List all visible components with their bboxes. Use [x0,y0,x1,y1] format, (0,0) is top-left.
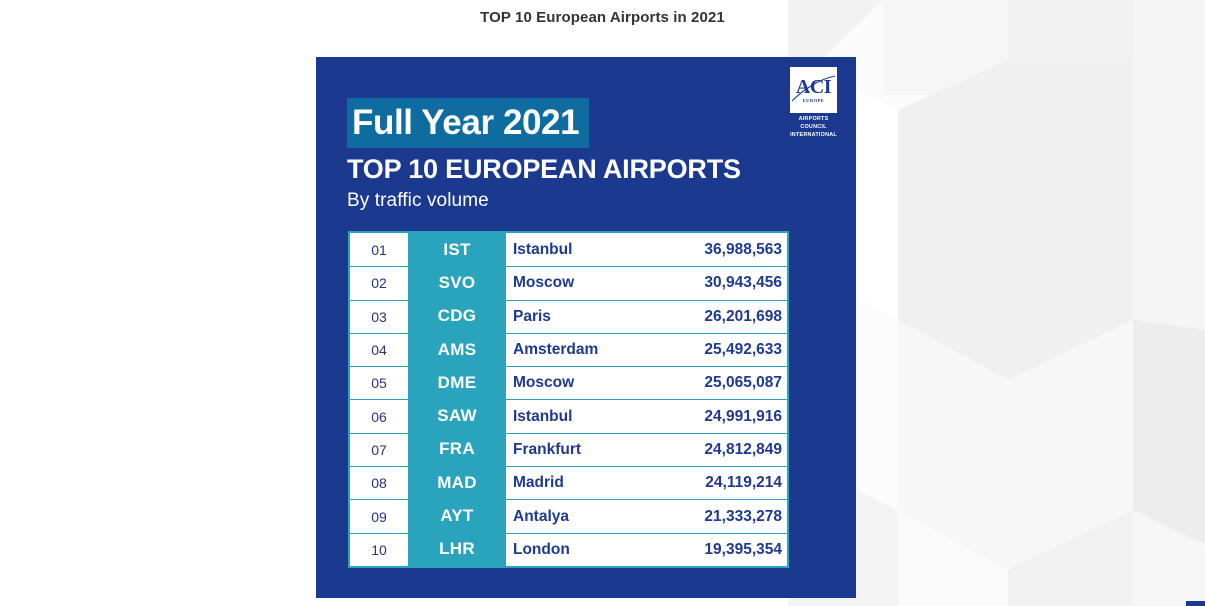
cell-airport-code: CDG [408,300,506,333]
cell-rank: 09 [350,499,408,532]
table-row: 10LHRLondon19,395,354 [350,533,787,566]
table-row: 07FRAFrankfurt24,812,849 [350,433,787,466]
aci-logo: ACI EUROPE AIRPORTS COUNCIL INTERNATIONA… [785,67,842,145]
aci-logo-mark-icon: ACI EUROPE [790,67,837,113]
table-row: 02SVOMoscow30,943,456 [350,266,787,299]
table-row: 01ISTIstanbul36,988,563 [350,233,787,266]
cell-rank: 01 [350,233,408,266]
cell-rank: 02 [350,266,408,299]
cell-traffic-volume: 24,991,916 [627,399,787,432]
aci-logo-line2: INTERNATIONAL [785,132,842,140]
cell-rank: 08 [350,466,408,499]
cell-city: Paris [506,300,627,333]
cell-rank: 05 [350,366,408,399]
card-subtitle: TOP 10 EUROPEAN AIRPORTS [347,154,792,185]
cell-airport-code: SAW [408,399,506,432]
cell-traffic-volume: 26,201,698 [627,300,787,333]
cell-airport-code: FRA [408,433,506,466]
cell-city: Madrid [506,466,627,499]
cell-city: London [506,533,627,566]
cell-traffic-volume: 19,395,354 [627,533,787,566]
cell-rank: 07 [350,433,408,466]
cell-airport-code: IST [408,233,506,266]
table-row: 08MADMadrid24,119,214 [350,466,787,499]
rankings-table: 01ISTIstanbul36,988,56302SVOMoscow30,943… [348,231,789,568]
corner-accent-sliver [1186,601,1205,606]
cell-rank: 03 [350,300,408,333]
svg-text:EUROPE: EUROPE [803,98,825,103]
cell-airport-code: AMS [408,333,506,366]
infographic-card: Full Year 2021 TOP 10 EUROPEAN AIRPORTS … [316,57,856,598]
cell-airport-code: MAD [408,466,506,499]
table-row: 09AYTAntalya21,333,278 [350,499,787,532]
cell-airport-code: LHR [408,533,506,566]
year-banner: Full Year 2021 [347,98,589,148]
cell-city: Moscow [506,366,627,399]
cell-city: Moscow [506,266,627,299]
cell-rank: 10 [350,533,408,566]
cell-traffic-volume: 21,333,278 [627,499,787,532]
table-row: 03CDGParis26,201,698 [350,300,787,333]
table-row: 04AMSAmsterdam25,492,633 [350,333,787,366]
cell-city: Frankfurt [506,433,627,466]
cell-traffic-volume: 24,812,849 [627,433,787,466]
cell-traffic-volume: 25,492,633 [627,333,787,366]
aci-logo-line1: AIRPORTS COUNCIL [785,116,842,132]
cell-airport-code: AYT [408,499,506,532]
cell-city: Antalya [506,499,627,532]
cell-airport-code: SVO [408,266,506,299]
cell-city: Amsterdam [506,333,627,366]
svg-text:ACI: ACI [796,76,832,98]
cell-traffic-volume: 30,943,456 [627,266,787,299]
table-row: 05DMEMoscow25,065,087 [350,366,787,399]
cell-airport-code: DME [408,366,506,399]
card-tagline: By traffic volume [347,190,792,212]
aci-monogram-icon: ACI EUROPE [790,67,837,113]
cell-traffic-volume: 36,988,563 [627,233,787,266]
cell-city: Istanbul [506,233,627,266]
card-header: Full Year 2021 TOP 10 EUROPEAN AIRPORTS … [347,98,792,212]
table-row: 06SAWIstanbul24,991,916 [350,399,787,432]
cell-rank: 06 [350,399,408,432]
cell-city: Istanbul [506,399,627,432]
cell-traffic-volume: 25,065,087 [627,366,787,399]
cell-rank: 04 [350,333,408,366]
aci-logo-wordmark: AIRPORTS COUNCIL INTERNATIONAL [785,116,842,139]
page-title: TOP 10 European Airports in 2021 [0,9,1205,26]
cell-traffic-volume: 24,119,214 [627,466,787,499]
